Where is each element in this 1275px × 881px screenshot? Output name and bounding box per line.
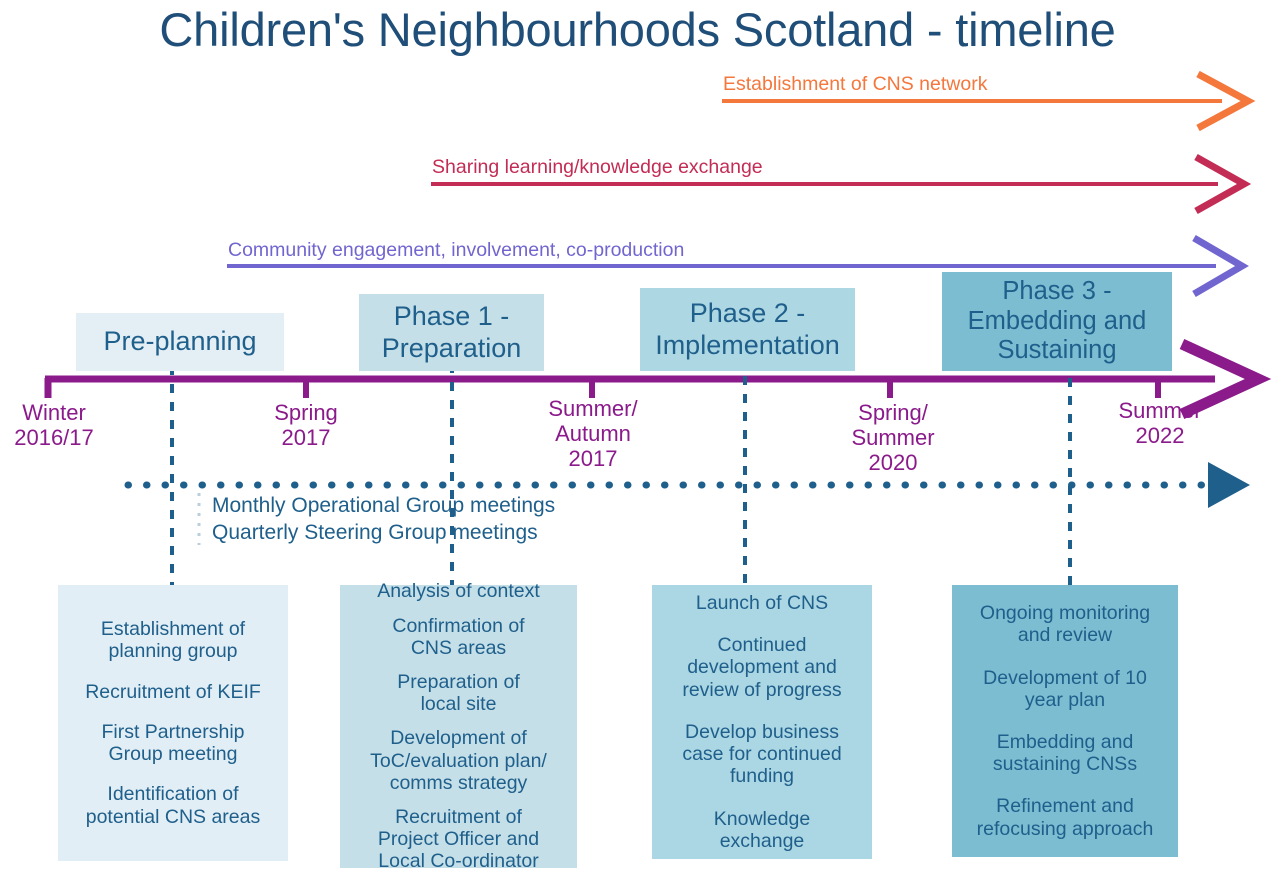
detail-item: Recruitment of Project Officer and Local… bbox=[340, 806, 577, 873]
detail-item: Confirmation of CNS areas bbox=[340, 615, 577, 659]
date-label-summer-autumn-2017: Summer/ Autumn 2017 bbox=[534, 396, 652, 471]
detail-item: Knowledge exchange bbox=[652, 808, 872, 852]
detail-box-phase-3[interactable]: Ongoing monitoring and review Developmen… bbox=[952, 585, 1178, 857]
date-label-summer-2022: Summer 2022 bbox=[1100, 398, 1220, 448]
meeting-label-monthly-operational: Monthly Operational Group meetings bbox=[212, 492, 555, 520]
detail-item: Launch of CNS bbox=[652, 592, 872, 614]
detail-item: Preparation of local site bbox=[340, 671, 577, 715]
detail-item: Develop business case for continued fund… bbox=[652, 721, 872, 788]
stream-label-sharing-learning: Sharing learning/knowledge exchange bbox=[432, 155, 763, 179]
date-label-spring-2017: Spring 2017 bbox=[250, 400, 362, 450]
detail-item: Development of 10 year plan bbox=[952, 667, 1178, 711]
stream-label-cns-network: Establishment of CNS network bbox=[723, 72, 987, 96]
date-label-spring-summer-2020: Spring/ Summer 2020 bbox=[834, 400, 952, 475]
detail-item: Ongoing monitoring and review bbox=[952, 602, 1178, 646]
phase-box-phase-1[interactable]: Phase 1 - Preparation bbox=[359, 294, 544, 371]
detail-item: First Partnership Group meeting bbox=[58, 721, 288, 765]
detail-item: Analysis of context bbox=[340, 580, 577, 602]
detail-item: Establishment of planning group bbox=[58, 618, 288, 662]
meeting-label-quarterly-steering: Quarterly Steering Group meetings bbox=[212, 519, 538, 547]
detail-item: Development of ToC/evaluation plan/ comm… bbox=[340, 727, 577, 794]
detail-box-pre-planning[interactable]: Establishment of planning group Recruitm… bbox=[58, 585, 288, 861]
detail-item: Embedding and sustaining CNSs bbox=[952, 731, 1178, 775]
detail-item: Continued development and review of prog… bbox=[652, 634, 872, 701]
stream-label-community-engagement: Community engagement, involvement, co-pr… bbox=[228, 238, 684, 262]
detail-box-phase-2[interactable]: Launch of CNS Continued development and … bbox=[652, 585, 872, 859]
phase-box-pre-planning[interactable]: Pre-planning bbox=[76, 313, 284, 371]
detail-item: Identification of potential CNS areas bbox=[58, 783, 288, 827]
detail-item: Refinement and refocusing approach bbox=[952, 795, 1178, 839]
phase-box-phase-3[interactable]: Phase 3 - Embedding and Sustaining bbox=[942, 272, 1172, 371]
detail-box-phase-1[interactable]: Analysis of context Confirmation of CNS … bbox=[340, 585, 577, 868]
date-label-winter-2016-17: Winter 2016/17 bbox=[0, 400, 108, 450]
detail-item: Recruitment of KEIF bbox=[58, 681, 288, 703]
page-title: Children's Neighbourhoods Scotland - tim… bbox=[0, 0, 1275, 58]
phase-box-phase-2[interactable]: Phase 2 - Implementation bbox=[640, 288, 855, 371]
